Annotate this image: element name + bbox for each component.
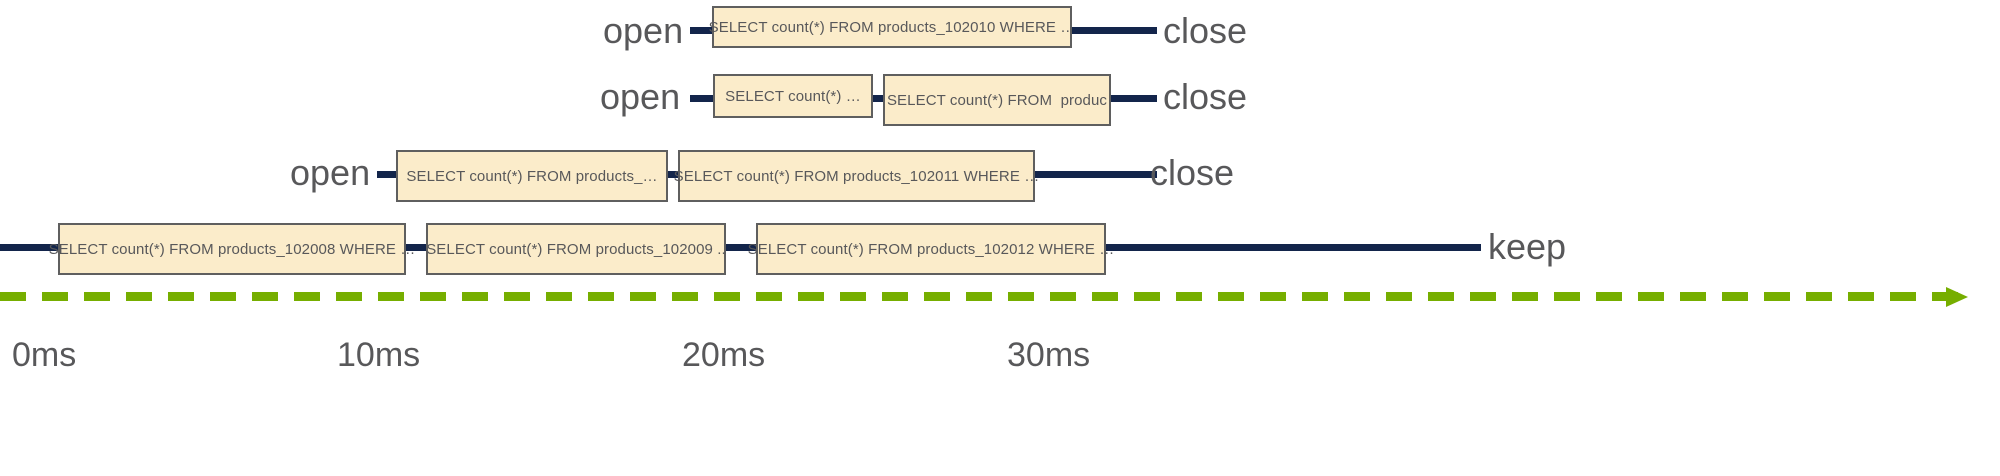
- lane-3-query-text-2: SELECT count(*) FROM products_102011 WHE…: [674, 168, 1040, 185]
- lane-4-segment-keep: [1106, 244, 1481, 251]
- time-tick-0ms: 0ms: [12, 338, 76, 372]
- lane-2-query-text-2: SELECT count(*) FROM produc: [887, 92, 1107, 109]
- lane-4-query-box-2[interactable]: SELECT count(*) FROM products_102009 ..: [426, 223, 726, 275]
- lane-2-query-box-2[interactable]: SELECT count(*) FROM produc: [883, 74, 1111, 126]
- lane-2-query-text-1: SELECT count(*) …: [725, 88, 861, 105]
- lane-2-segment-mid: [873, 95, 883, 102]
- time-tick-20ms: 20ms: [682, 338, 765, 372]
- lane-1-open-label: open: [603, 13, 683, 49]
- lane-3-query-text-1: SELECT count(*) FROM products_…: [406, 168, 657, 185]
- lane-2-segment-close: [1111, 95, 1157, 102]
- lane-3-close-label: close: [1150, 155, 1234, 191]
- lane-4-query-text-2: SELECT count(*) FROM products_102009 ..: [426, 241, 726, 258]
- lane-1-segment-close: [1072, 27, 1157, 34]
- lane-4-keep-label: keep: [1488, 229, 1566, 265]
- timeline-diagram: open SELECT count(*) FROM products_10201…: [0, 0, 2000, 476]
- time-axis-dashed-line: [0, 292, 1960, 301]
- lane-2-query-box-1[interactable]: SELECT count(*) …: [713, 74, 873, 118]
- lane-1-close-label: close: [1163, 13, 1247, 49]
- lane-3-query-box-1[interactable]: SELECT count(*) FROM products_…: [396, 150, 668, 202]
- lane-3-segment-close: [1035, 171, 1157, 178]
- time-axis-arrow-icon: [1946, 287, 1968, 307]
- lane-4-segment-mid-1: [406, 244, 426, 251]
- lane-4-query-text-1: SELECT count(*) FROM products_102008 WHE…: [49, 241, 416, 258]
- time-tick-30ms: 30ms: [1007, 338, 1090, 372]
- lane-2-segment-open: [690, 95, 713, 102]
- lane-4-query-box-3[interactable]: SELECT count(*) FROM products_102012 WHE…: [756, 223, 1106, 275]
- lane-2-close-label: close: [1163, 79, 1247, 115]
- lane-4-query-box-1[interactable]: SELECT count(*) FROM products_102008 WHE…: [58, 223, 406, 275]
- lane-3-segment-open: [377, 171, 396, 178]
- time-axis: [0, 287, 2000, 305]
- lane-1-query-text-1: SELECT count(*) FROM products_102010 WHE…: [709, 19, 1076, 36]
- lane-3-open-label: open: [290, 155, 370, 191]
- lane-1-query-box-1[interactable]: SELECT count(*) FROM products_102010 WHE…: [712, 6, 1072, 48]
- lane-3-query-box-2[interactable]: SELECT count(*) FROM products_102011 WHE…: [678, 150, 1035, 202]
- time-tick-10ms: 10ms: [337, 338, 420, 372]
- lane-4-query-text-3: SELECT count(*) FROM products_102012 WHE…: [748, 241, 1115, 258]
- lane-2-open-label: open: [600, 79, 680, 115]
